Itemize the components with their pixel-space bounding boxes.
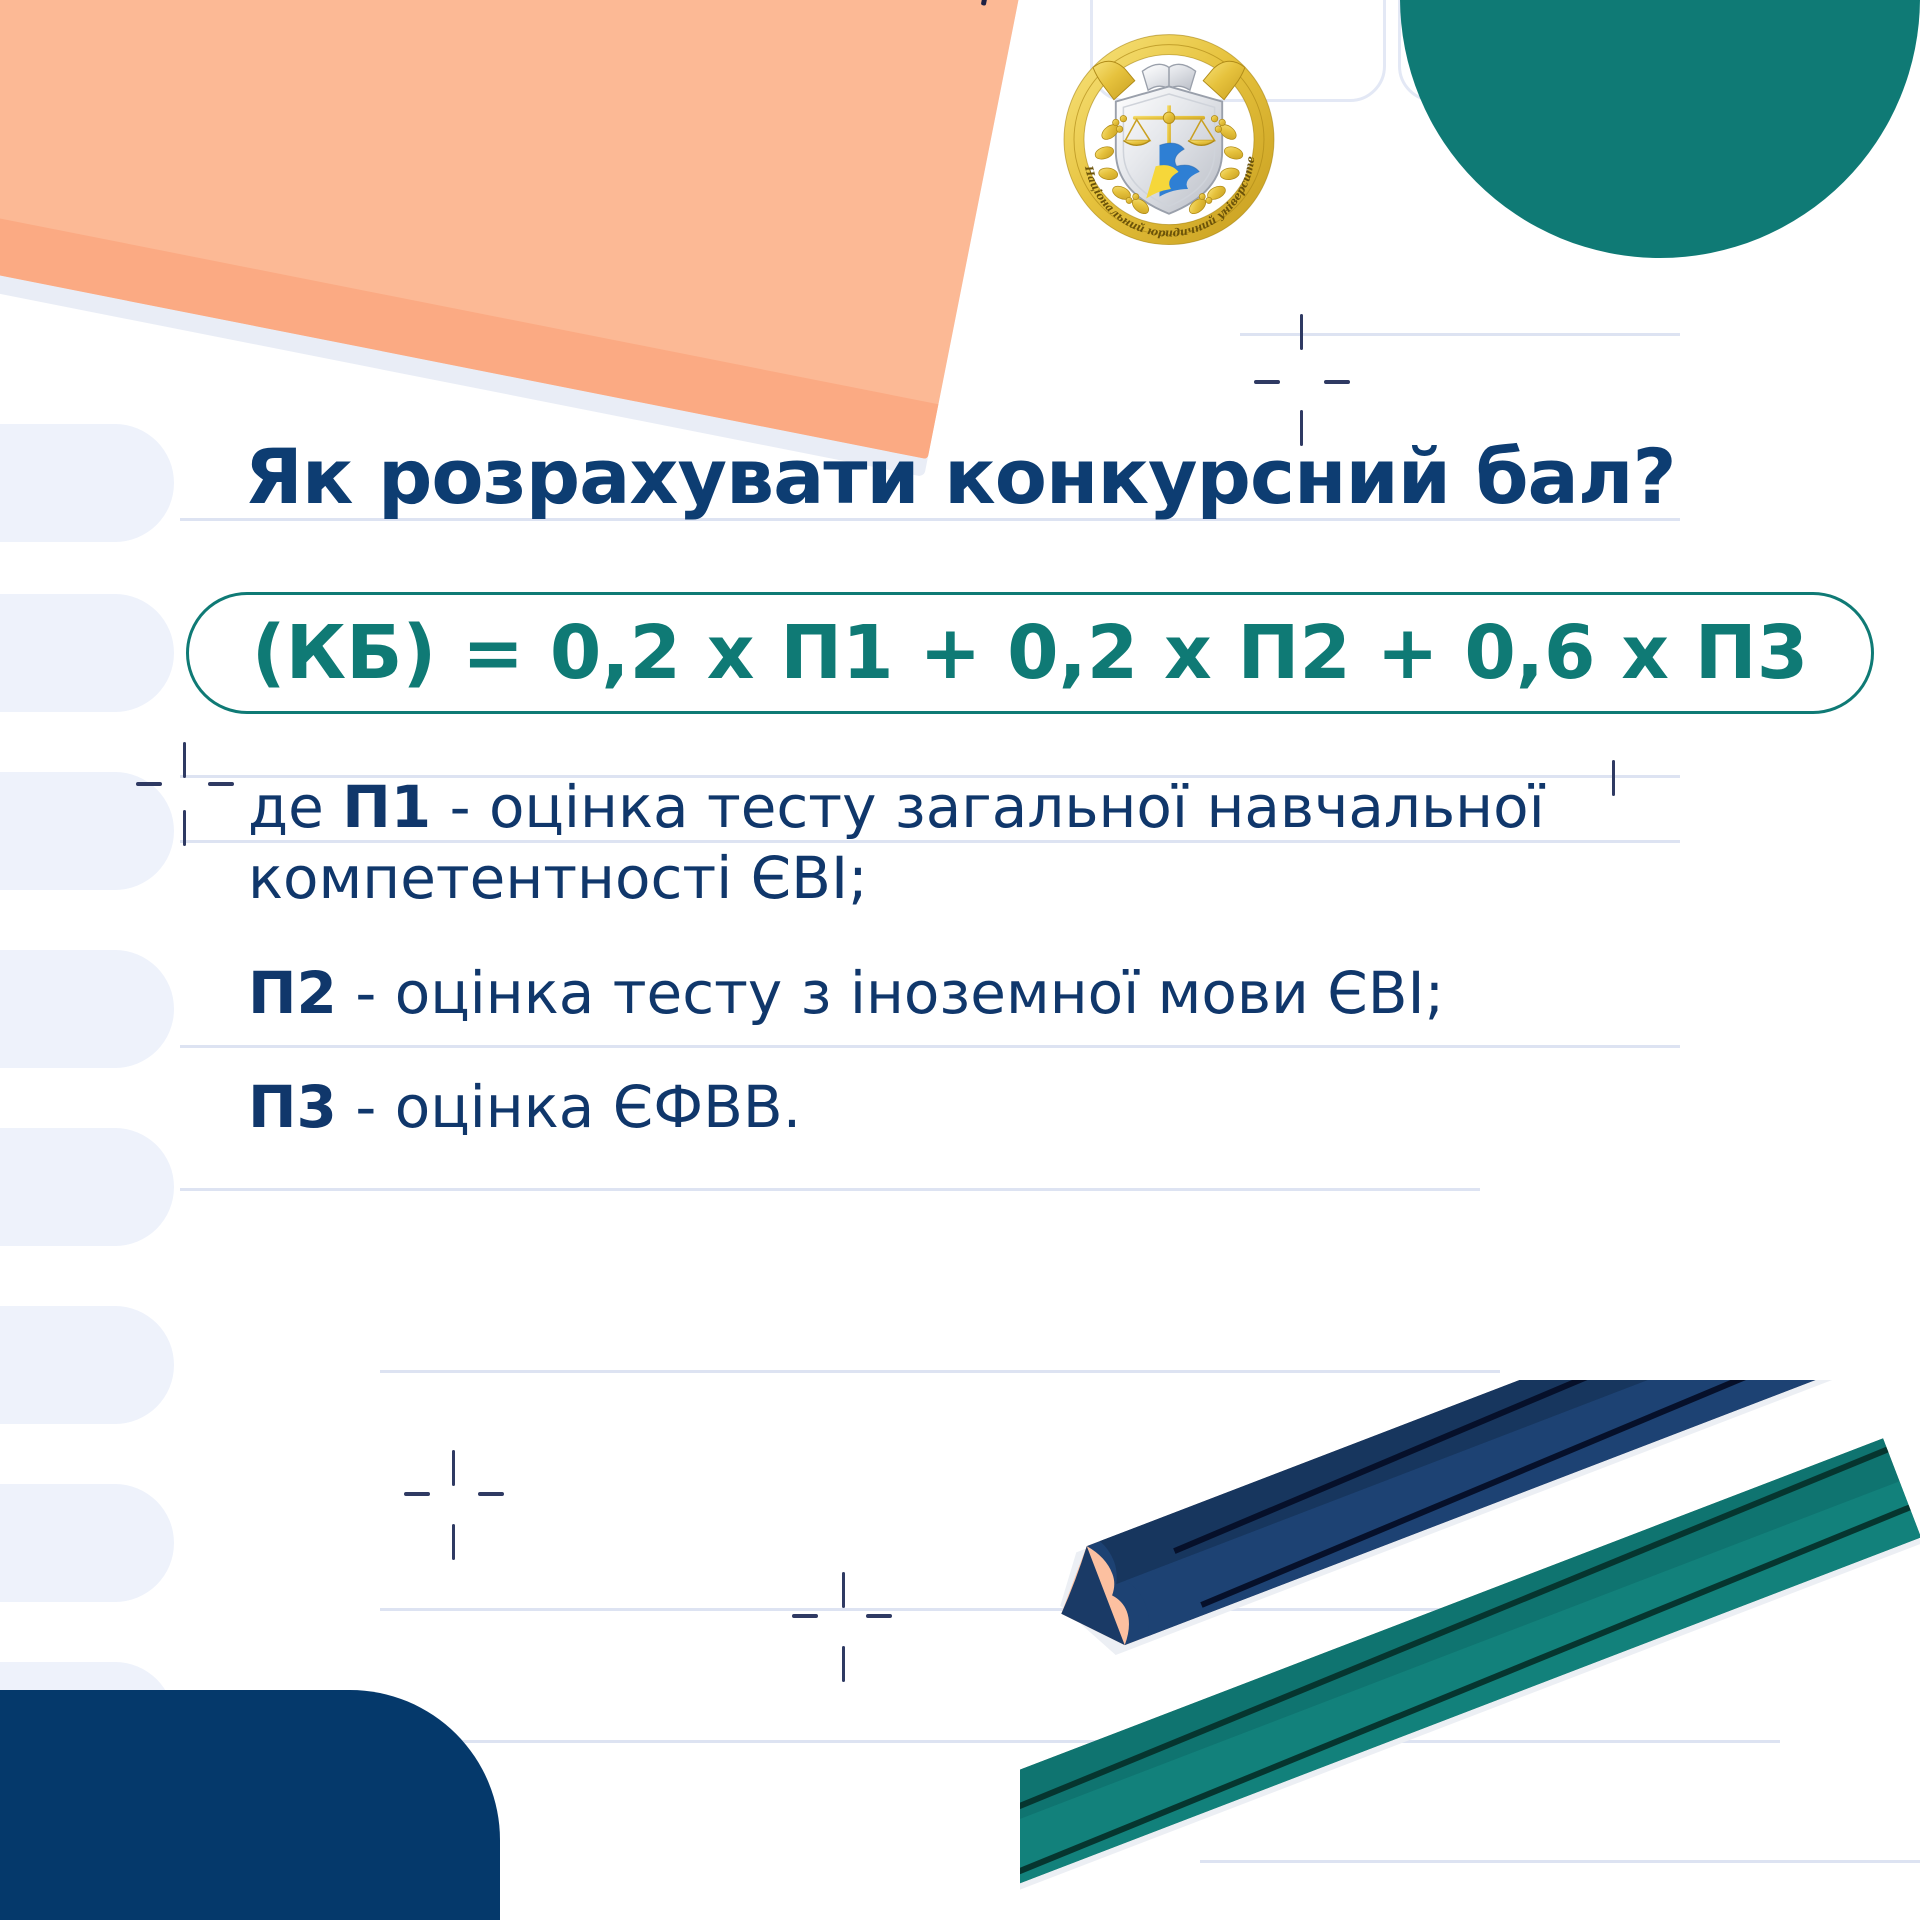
- poster-canvas: Національний юридичний університет імені…: [0, 0, 1920, 1920]
- definitions-list: де П1 - оцінка тесту загальної навчально…: [248, 772, 1608, 1187]
- definition-item-p1: де П1 - оцінка тесту загальної навчально…: [248, 772, 1608, 914]
- definition-symbol: П1: [342, 773, 431, 841]
- definition-symbol: П3: [248, 1073, 337, 1141]
- page-title: Як розрахувати конкурсний бал?: [0, 432, 1920, 521]
- definition-item-p3: П3 - оцінка ЄФВВ.: [248, 1072, 1608, 1143]
- definition-text: - оцінка ЄФВВ.: [337, 1073, 801, 1141]
- formula-box: (КБ) = 0,2 x П1 + 0,2 x П2 + 0,6 x П3: [186, 592, 1874, 714]
- content-area: Як розрахувати конкурсний бал? (КБ) = 0,…: [0, 0, 1920, 1920]
- definition-prefix: де: [248, 773, 342, 841]
- definition-text: - оцінка тесту з іноземної мови ЄВІ;: [337, 959, 1444, 1027]
- definition-text: - оцінка тесту загальної навчальної комп…: [248, 773, 1545, 912]
- definition-symbol: П2: [248, 959, 337, 1027]
- formula-text: (КБ) = 0,2 x П1 + 0,2 x П2 + 0,6 x П3: [252, 610, 1808, 696]
- definition-item-p2: П2 - оцінка тесту з іноземної мови ЄВІ;: [248, 958, 1608, 1029]
